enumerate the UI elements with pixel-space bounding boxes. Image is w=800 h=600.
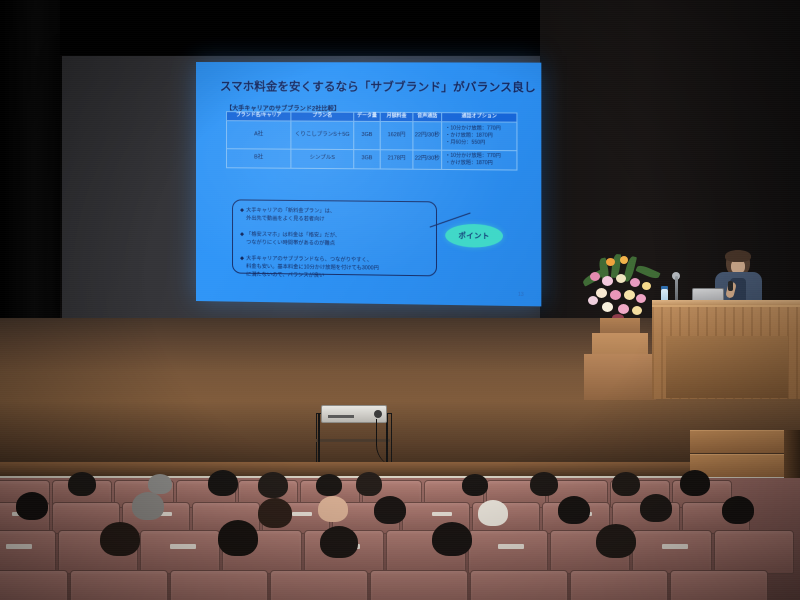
table-header-cell: 通話オプション [442,113,517,123]
flower-bloom [588,296,598,305]
audience-head [478,500,508,526]
audience-head [258,472,288,498]
audience-head [612,472,640,496]
bullet-item: ◆ 「格安スマホ」は料金は「格安」だが、 つながりにくい時間帯があるのが難点 [240,231,340,248]
audience-seating [0,478,800,600]
presenter-hair [725,250,751,262]
table-header-cell: 音声通話 [413,113,442,123]
seat-number-tag [432,512,452,516]
flower-leaf [635,263,660,280]
cell-options: ・10分かけ放題：770円 ・かけ放題：1870円 ・月60分：550円 [442,122,517,150]
seat-number-tag [6,544,32,549]
theater-seat [632,530,712,574]
table-header-cell: ブランド名/キャリア [227,112,291,122]
audience-head [432,522,472,556]
bullet-line: 外出先で動画をよく見る若者向け [246,215,335,224]
audience-head [320,526,358,558]
bullet-marker-icon: ◆ [240,206,244,214]
bullet-marker-icon: ◆ [240,231,244,239]
audience-head [462,474,488,496]
flower-bloom [630,278,640,287]
table-row: B社 シンプルS 3GB 2178円 22円/30秒 ・10分かけ放題：770円… [227,148,517,170]
seat-number-tag [170,544,196,549]
flower-bloom [624,290,635,300]
audience-head [16,492,48,520]
audience-head [316,474,342,496]
theater-seat [140,530,220,574]
audience-head [640,494,672,522]
theater-seat [714,530,794,574]
table-header-cell: 月額料金 [380,112,413,122]
audience-head [132,492,164,520]
theater-seat [0,530,56,574]
bullet-item: ◆ 大手キャリアのサブブランドなら、つながりやすく、 料金も安い。基本料金に10… [240,255,379,281]
seat-number-tag [292,512,312,516]
cell-data: 3GB [354,149,380,169]
table-header-cell: データ量 [354,112,380,122]
flower-bloom [620,256,628,264]
flower-bloom [606,258,615,266]
flower-bloom [610,290,621,300]
bullet-line: に満たないので、バランスが良い [246,271,379,281]
bullet-item: ◆ 大手キャリアの「新料金プラン」は、 外出先で動画をよく見る若者向け [240,206,335,223]
option-line: ・月60分：550円 [445,140,515,148]
audience-head [530,472,558,496]
audience-head [148,474,172,494]
cell-voice: 22円/30秒 [413,122,442,150]
flower-bloom [616,274,626,283]
seat-number-tag [498,544,524,549]
flower-bloom [590,272,600,281]
seat-number-tag [662,544,688,549]
audience-head [680,470,710,496]
comparison-table: ブランド名/キャリア プラン名 データ量 月額料金 音声通話 通話オプション A… [226,111,517,171]
audience-head [68,472,96,496]
theater-seat [0,570,68,600]
theater-seat [270,570,368,600]
theater-seat [670,570,768,600]
speech-bubble: ◆ 大手キャリアの「新料金プラン」は、 外出先で動画をよく見る若者向け ◆ 「格… [232,199,437,276]
table-header-cell: プラン名 [291,112,354,122]
table-row: A社 くりこしプランS＋5G 3GB 1628円 22円/30秒 ・10分かけ放… [227,121,517,150]
audience-head [218,520,258,556]
bullet-marker-icon: ◆ [240,255,244,263]
cell-carrier: B社 [227,148,291,168]
audience-head [208,470,238,496]
flower-bloom [602,276,613,286]
cell-carrier: A社 [227,121,291,149]
projector-vent [328,415,354,418]
flower-bloom [632,306,642,315]
flower-bloom [596,288,607,298]
audience-head [596,524,636,558]
flower-bloom [602,302,613,312]
cell-options: ・10分かけ放題：770円 ・かけ放題：1870円 [442,150,517,171]
flower-bloom [636,294,646,303]
flower-pedestal-lower [584,354,656,400]
theater-seat [370,570,468,600]
audience-head [558,496,590,524]
point-badge: ポイント [445,224,503,248]
flower-bloom [642,282,651,290]
theater-seat [170,570,268,600]
theater-seat [70,570,168,600]
audience-head [722,496,754,524]
projector-lens-icon [374,410,382,418]
projected-slide: スマホ料金を安くするなら「サブブランド」がバランス良し 【大手キャリアのサブブラ… [196,62,541,306]
theater-seat [570,570,668,600]
theater-seat [468,530,548,574]
cell-price: 1628円 [380,122,413,150]
bullet-line: つながりにくい時間帯があるのが難点 [246,239,340,248]
seminar-hall-photo: スマホ料金を安くするなら「サブブランド」がバランス良し 【大手キャリアのサブブラ… [0,0,800,600]
flower-bloom [618,304,629,314]
cell-plan: シンプルS [291,149,354,169]
audience-head [318,496,348,522]
audience-head [374,496,406,524]
option-line: ・かけ放題：1870円 [445,160,515,168]
handheld-microphone-icon [728,281,733,291]
theater-seat [470,570,568,600]
audience-head [356,472,382,496]
podium-base [666,336,788,398]
audience-head [100,522,140,556]
slide-page-number: 13 [518,292,524,298]
cell-data: 3GB [354,122,380,150]
audience-head [258,498,292,528]
slide-title: スマホ料金を安くするなら「サブブランド」がバランス良し [220,78,526,95]
cell-voice: 22円/30秒 [413,150,442,170]
cell-price: 2178円 [380,149,413,169]
cell-plan: くりこしプランS＋5G [291,121,354,149]
